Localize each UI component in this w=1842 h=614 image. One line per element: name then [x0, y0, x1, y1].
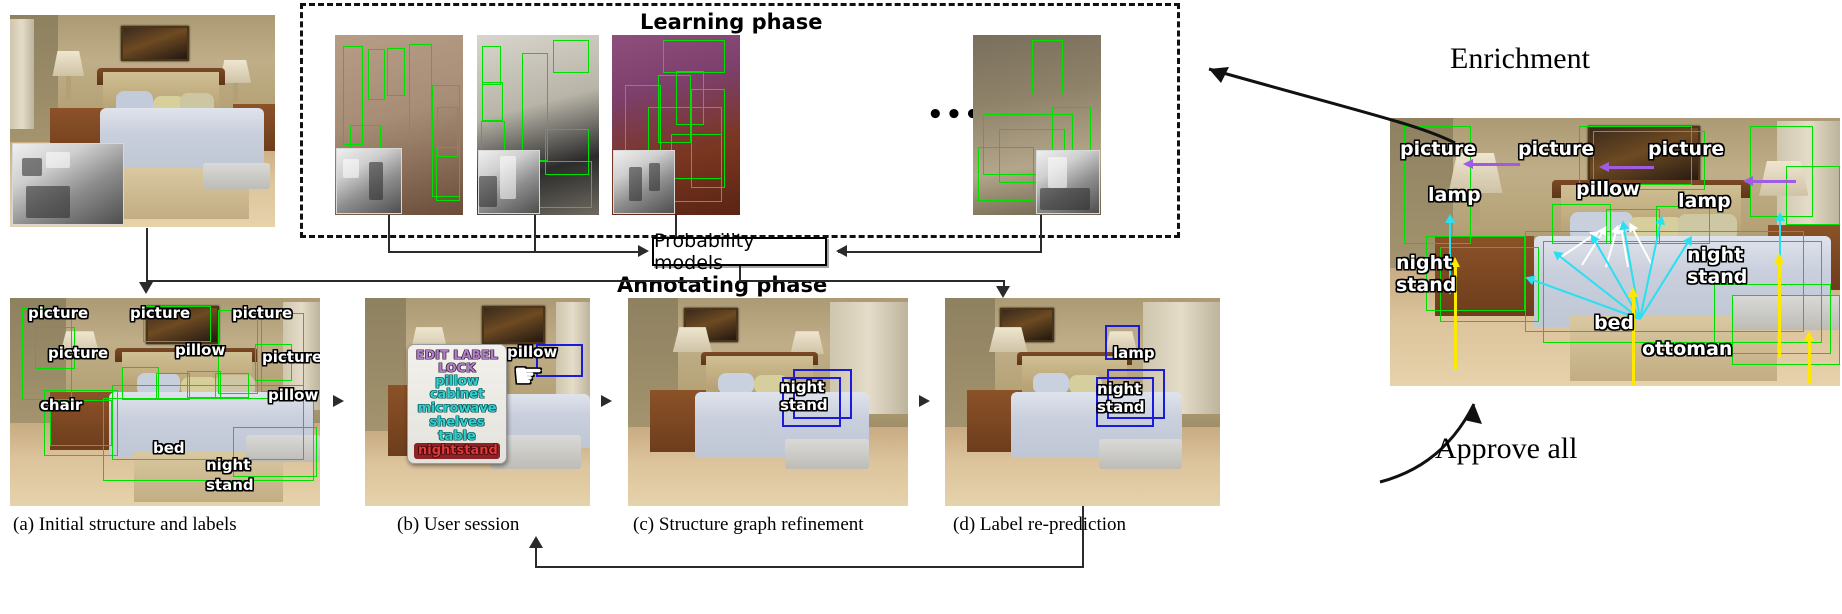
object-label: pillow: [1576, 180, 1640, 199]
menu-item-lock[interactable]: LOCK: [414, 361, 500, 374]
input-to-panel-a-line: [146, 228, 148, 280]
depth-map-inset: [613, 150, 675, 214]
caption-c: (c) Structure graph refinement: [633, 514, 864, 536]
picture-link-arrow: [1472, 163, 1520, 166]
panel-d-input-arrow: [996, 286, 1010, 298]
panel-b-to-c-arrow: [601, 395, 612, 407]
probmodels-to-annot-line: [739, 266, 741, 280]
panel-d-label: stand: [1097, 400, 1145, 415]
feedback-loop-line: [535, 545, 537, 567]
input-rgbd-panel: [10, 15, 275, 227]
object-bbox: [1786, 166, 1840, 225]
learning-feeder-arrow: [638, 245, 649, 257]
learning-thumb-kitchen: [477, 35, 599, 215]
object-label: bed: [1594, 314, 1634, 333]
feedback-loop-line: [535, 566, 1084, 568]
object-label: stand: [206, 478, 254, 493]
panel-c-label: night: [780, 380, 824, 395]
learning-thumb-living-room: [335, 35, 463, 215]
learning-feeder-line: [388, 251, 646, 253]
object-label: picture: [1648, 140, 1724, 159]
annotating-phase-title: Annotating phase: [617, 273, 827, 297]
learning-feeder-line: [534, 215, 536, 253]
menu-item-pillow[interactable]: pillow: [414, 375, 500, 389]
picture-link-arrow: [1752, 180, 1796, 183]
caption-d: (d) Label re-prediction: [953, 514, 1126, 536]
pointing-hand-cursor-icon: ☛: [513, 360, 543, 394]
object-label: bed: [153, 441, 185, 456]
depth-map-inset: [12, 143, 124, 225]
panel-a-input-arrow: [139, 282, 153, 294]
object-label: night: [206, 458, 250, 473]
menu-item-microwave[interactable]: microwave: [414, 402, 500, 416]
bedroom-scene-render: [945, 298, 1220, 506]
panel-enriched-result: picturepicturepicturelamppillowlampnight…: [1390, 118, 1840, 386]
enrichment-arrow: [1185, 55, 1465, 150]
object-bbox: [1732, 295, 1840, 365]
object-label: stand: [1396, 276, 1456, 295]
object-label: picture: [130, 306, 190, 321]
object-label: picture: [48, 346, 108, 361]
depth-map-inset: [336, 148, 402, 214]
object-label: night: [1396, 254, 1452, 273]
object-label: picture: [1518, 140, 1594, 159]
object-label: pillow: [175, 343, 225, 358]
caption-a: (a) Initial structure and labels: [13, 514, 237, 536]
learning-feeder-arrow: [836, 245, 847, 257]
enrichment-label: Enrichment: [1450, 42, 1590, 76]
input-to-panel-a-line: [146, 280, 706, 282]
ground-support-arrow: [1778, 262, 1781, 358]
panel-a-initial-structure: picturepicturepicturepicturepillowpictur…: [10, 298, 320, 506]
object-label: picture: [232, 306, 292, 321]
learning-phase-title: Learning phase: [640, 10, 823, 34]
learning-thumb-bathroom: [973, 35, 1101, 215]
object-label: stand: [1687, 268, 1747, 287]
ground-support-arrow: [1632, 296, 1635, 386]
depth-map-inset: [1036, 150, 1100, 214]
caption-b: (b) User session: [397, 514, 519, 536]
menu-item-cabinet[interactable]: cabinet: [414, 388, 500, 402]
panel-d-label: night: [1097, 382, 1141, 397]
panel-c-structure-refinement: night stand: [628, 298, 908, 506]
menu-item-nightstand-selected[interactable]: nightstand: [414, 443, 500, 459]
learning-feeder-line: [838, 251, 1042, 253]
feedback-loop-arrow: [529, 536, 543, 548]
object-label: chair: [40, 398, 82, 413]
panel-a-to-b-arrow: [333, 395, 344, 407]
panel-d-label-reprediction: lamp night stand: [945, 298, 1220, 506]
ground-support-arrow: [1808, 340, 1811, 384]
approve-all-label: Approve all: [1435, 432, 1577, 466]
menu-item-table[interactable]: table: [414, 430, 500, 444]
edit-label-context-menu[interactable]: EDIT LABEL LOCK pillow cabinet microwave…: [407, 344, 507, 464]
probability-models-box[interactable]: Probability models: [652, 237, 827, 266]
panel-b-user-session: pillow EDIT LABEL LOCK pillow cabinet mi…: [365, 298, 590, 506]
bedroom-scene-render: [628, 298, 908, 506]
object-label: picture: [262, 350, 320, 365]
object-label: ottoman: [1642, 340, 1732, 359]
learning-thumb-dining-room: [612, 35, 740, 215]
probmodels-to-paneld-line: [739, 280, 1004, 282]
learning-feeder-line: [388, 215, 390, 253]
panel-c-label: stand: [780, 398, 828, 413]
object-label: night: [1687, 246, 1743, 265]
object-label: lamp: [1428, 186, 1481, 205]
object-label: lamp: [1678, 192, 1731, 211]
depth-map-inset: [478, 150, 540, 214]
panel-d-label: lamp: [1113, 346, 1155, 361]
menu-title: EDIT LABEL: [414, 348, 500, 361]
picture-link-arrow: [1608, 166, 1654, 169]
object-label: pillow: [268, 388, 318, 403]
learning-feeder-line: [1040, 215, 1042, 253]
panel-c-to-d-arrow: [919, 395, 930, 407]
object-label: picture: [28, 306, 88, 321]
menu-item-shelves[interactable]: shelves: [414, 416, 500, 430]
